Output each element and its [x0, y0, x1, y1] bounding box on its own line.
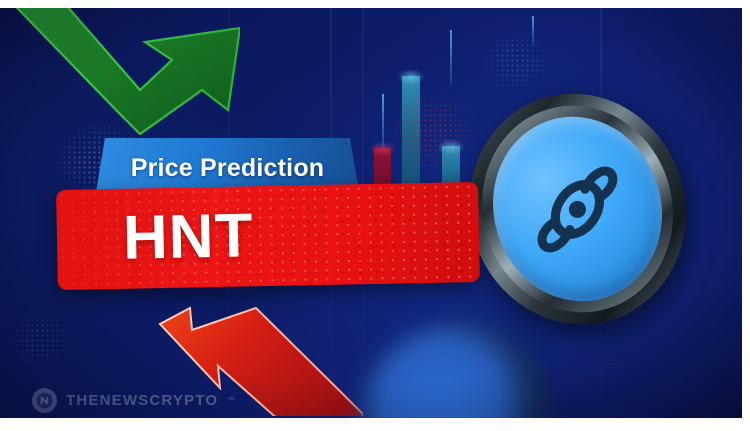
halftone-dots — [0, 308, 80, 378]
candle-glow — [397, 69, 425, 85]
helium-logo-icon — [512, 137, 643, 280]
ticker-banner: HNT — [56, 182, 480, 290]
watermark-logo: THENEWSCRYPTO ™ — [32, 388, 234, 413]
watermark-text: THENEWSCRYPTO — [66, 392, 218, 409]
trend-up-arrow — [0, 8, 240, 137]
trademark-symbol: ™ — [227, 397, 234, 404]
halftone-dots — [470, 28, 560, 100]
artwork-canvas: Price Prediction HNT THENEWSCRYPTO ™ — [0, 8, 742, 418]
ticker-label: HNT — [56, 182, 480, 290]
thumbnail-image: Price Prediction HNT THENEWSCRYPTO ™ — [0, 0, 750, 431]
thenewscrypto-logo-icon — [32, 388, 57, 413]
candle-wick — [450, 30, 452, 86]
price-prediction-label: Price Prediction — [131, 154, 325, 183]
